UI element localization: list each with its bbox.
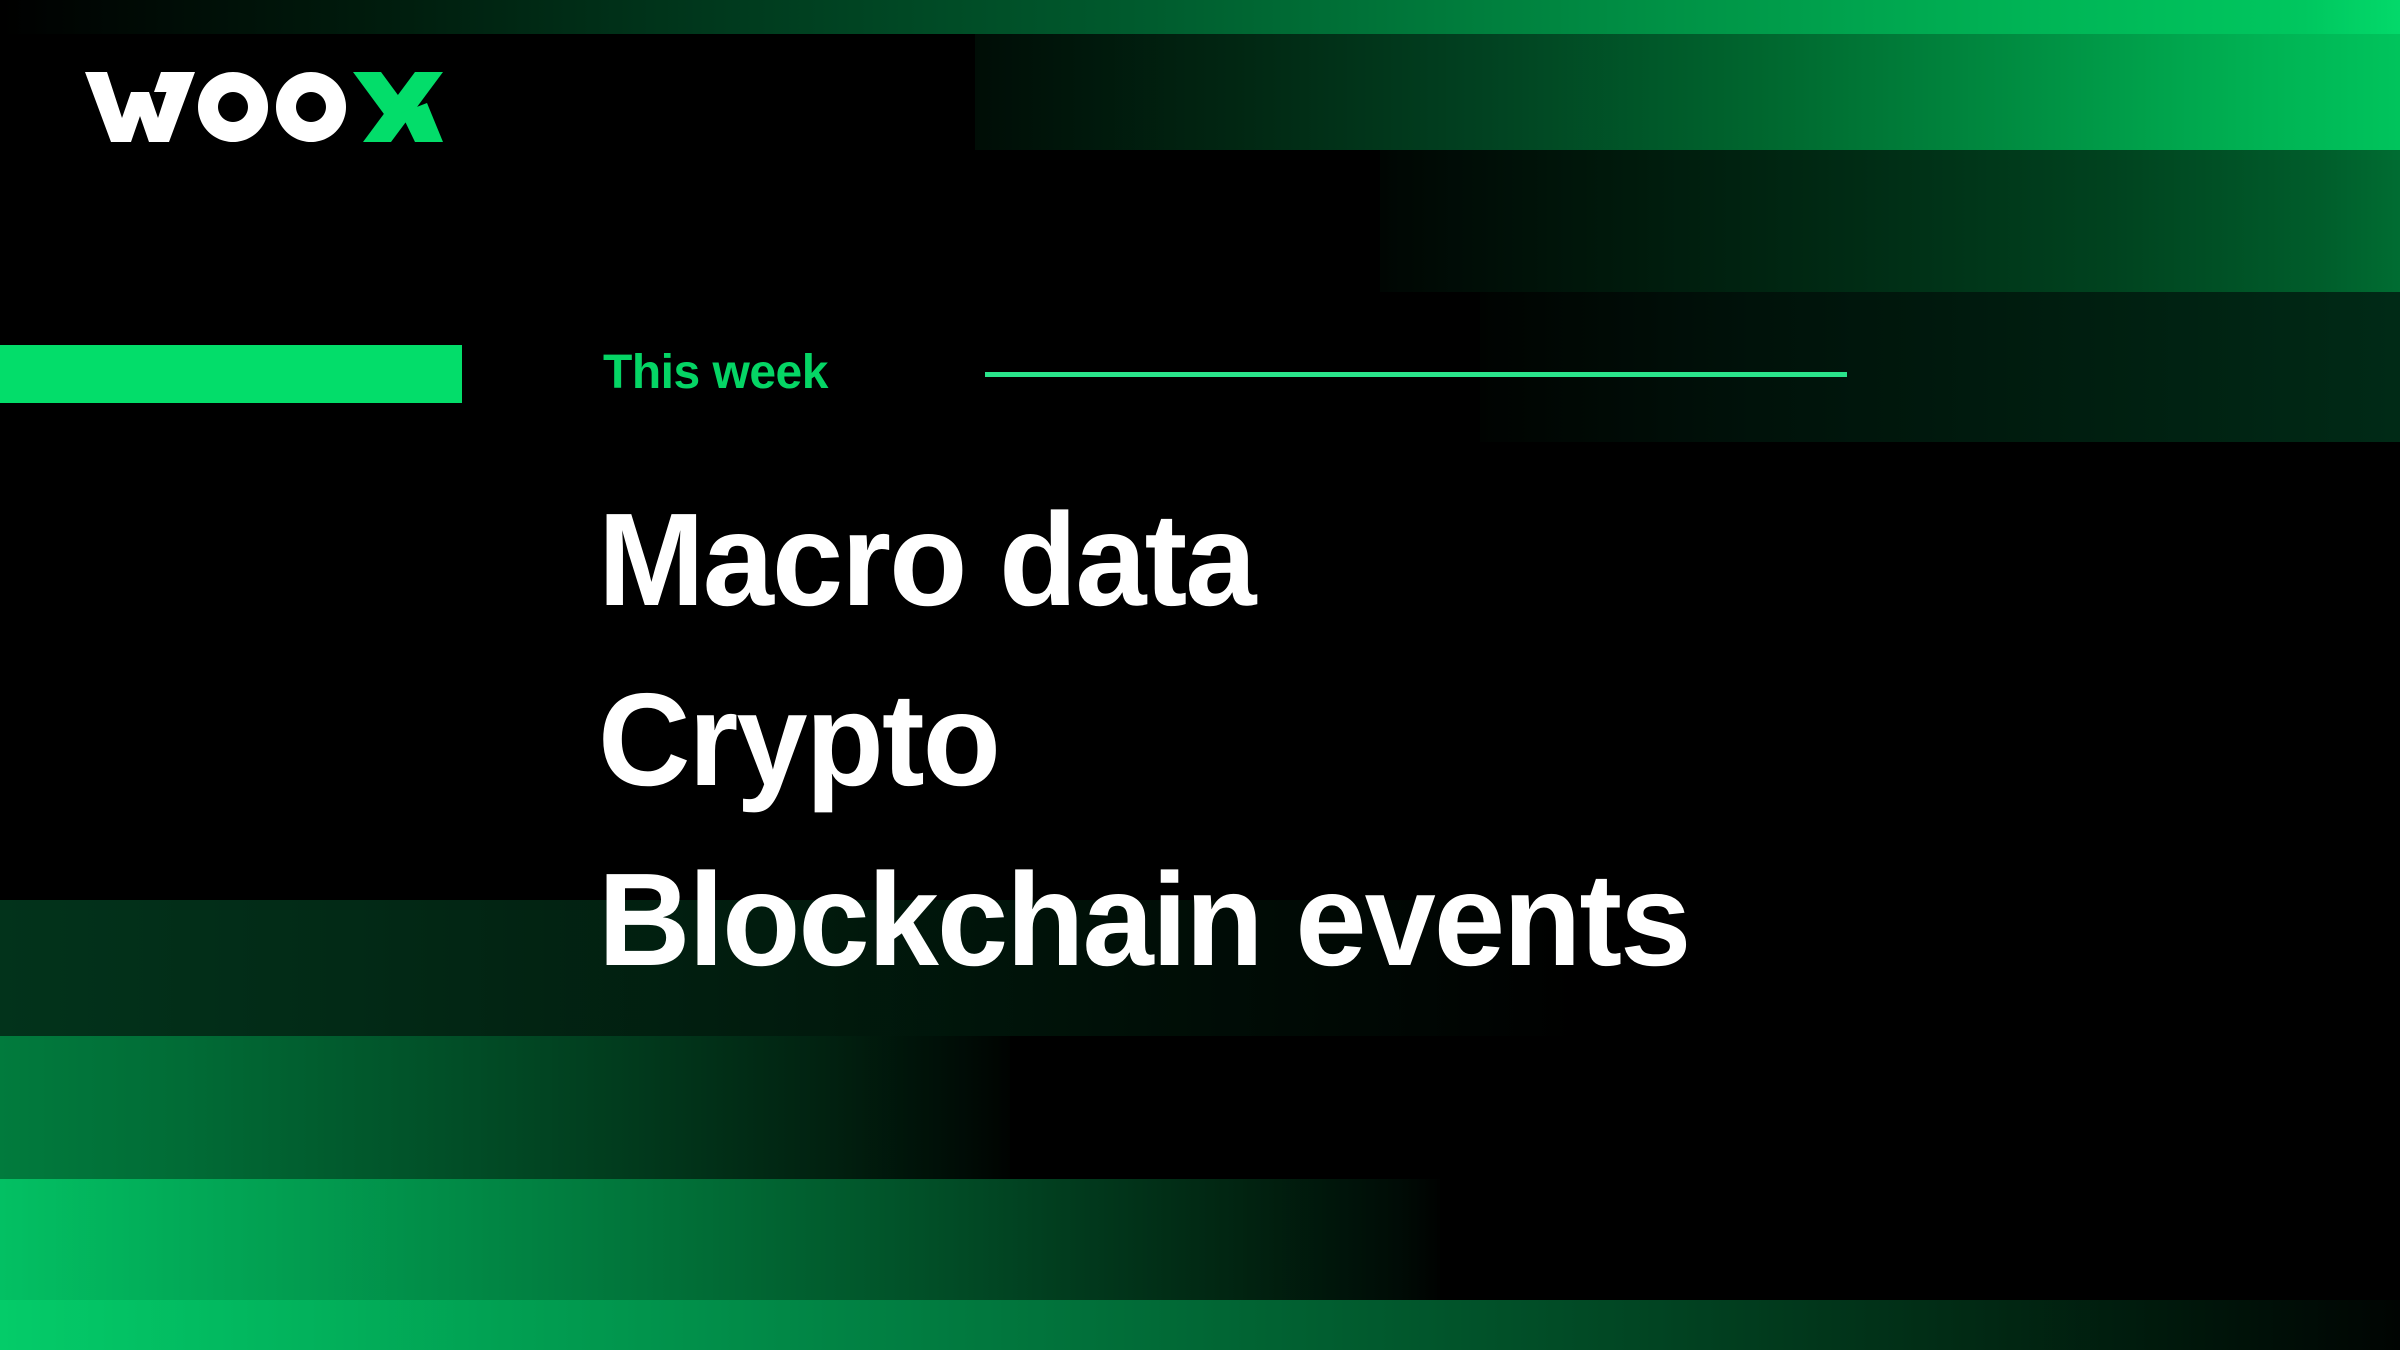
eyebrow-label: This week: [603, 343, 828, 403]
decor-stripe-top-3: [1380, 150, 2400, 292]
eyebrow: This week: [0, 345, 2400, 405]
decor-stripe-bottom-3: [0, 1179, 1440, 1300]
woox-logo[interactable]: [85, 58, 445, 142]
headline-line-1: Macro data: [598, 470, 2305, 650]
slide-canvas: This week Macro data Crypto Blockchain e…: [0, 0, 2400, 1350]
headline-block: Macro data Crypto Blockchain events: [598, 470, 2358, 1010]
decor-stripe-bottom-2: [0, 1036, 1010, 1179]
accent-bar: [0, 345, 462, 403]
decor-stripe-top-2: [975, 34, 2400, 150]
decor-stripe-bottom-4: [0, 1300, 2400, 1350]
headline-line-3: Blockchain events: [598, 830, 2305, 1010]
decor-stripe-top-1: [0, 0, 2400, 34]
eyebrow-divider-line: [985, 372, 1847, 377]
headline-line-2: Crypto: [598, 650, 2305, 830]
woox-logo-icon: [85, 58, 445, 142]
